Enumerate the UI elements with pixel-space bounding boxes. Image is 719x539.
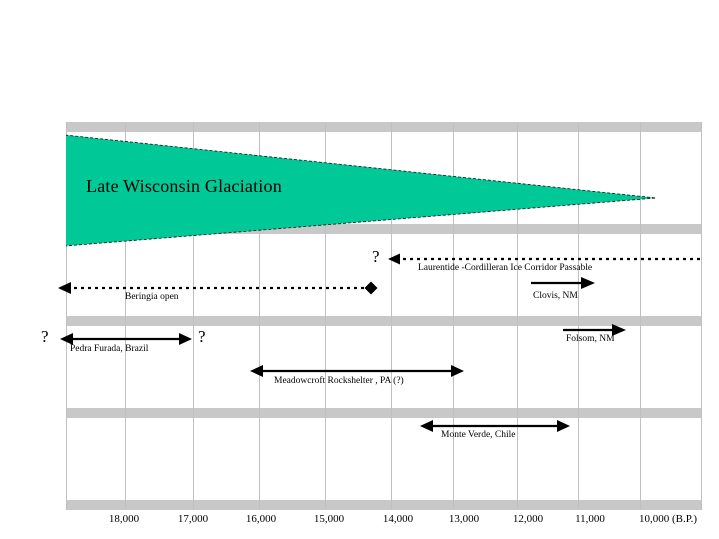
- pedra-furada-question-mark-right: ?: [198, 328, 206, 345]
- axis-tick-3: 15,000: [314, 513, 344, 525]
- pedra-furada-label: Pedra Furada, Brazil: [70, 344, 148, 355]
- folsom-label: Folsom, NM: [566, 334, 615, 345]
- arrow-left-icon: [420, 420, 433, 432]
- ice-corridor-question-mark: ?: [372, 248, 380, 265]
- pedra-furada-question-mark-left: ?: [41, 328, 49, 345]
- diamond-marker-icon: [365, 282, 378, 295]
- meadowcroft-label: Meadowcroft Rockshelter , PA (?): [274, 376, 404, 387]
- arrow-right-icon: [557, 420, 570, 432]
- arrow-right-icon: [581, 277, 595, 289]
- axis-tick-6: 12,000: [513, 513, 543, 525]
- monte-verde-label: Monte Verde, Chile: [441, 430, 516, 441]
- axis-tick-7: 11,000: [575, 513, 605, 525]
- arrow-left-icon: [388, 254, 400, 265]
- axis-tick-1: 17,000: [178, 513, 208, 525]
- glacier-label: Late Wisconsin Glaciation: [86, 176, 282, 197]
- ice-corridor-label: Laurentide -Cordilleran Ice Corridor Pas…: [418, 263, 592, 274]
- timeline-chart: Late Wisconsin Glaciation ? Laurentide -…: [0, 0, 719, 539]
- clovis-line: [531, 275, 601, 291]
- beringia-label: Beringia open: [125, 292, 179, 303]
- axis-tick-labels: 18,000 17,000 16,000 15,000 14,000 13,00…: [0, 513, 719, 537]
- arrow-right-icon: [451, 365, 464, 377]
- arrow-left-icon: [250, 365, 263, 377]
- axis-tick-5: 13,000: [449, 513, 479, 525]
- axis-tick-8: 10,000 (B.P.): [639, 513, 697, 525]
- beringia-line: [58, 279, 383, 297]
- axis-tick-4: 14,000: [383, 513, 413, 525]
- arrow-right-icon: [179, 333, 192, 345]
- clovis-label: Clovis, NM: [533, 291, 578, 302]
- axis-tick-0: 18,000: [109, 513, 139, 525]
- axis-tick-2: 16,000: [246, 513, 276, 525]
- arrow-left-icon: [58, 282, 71, 294]
